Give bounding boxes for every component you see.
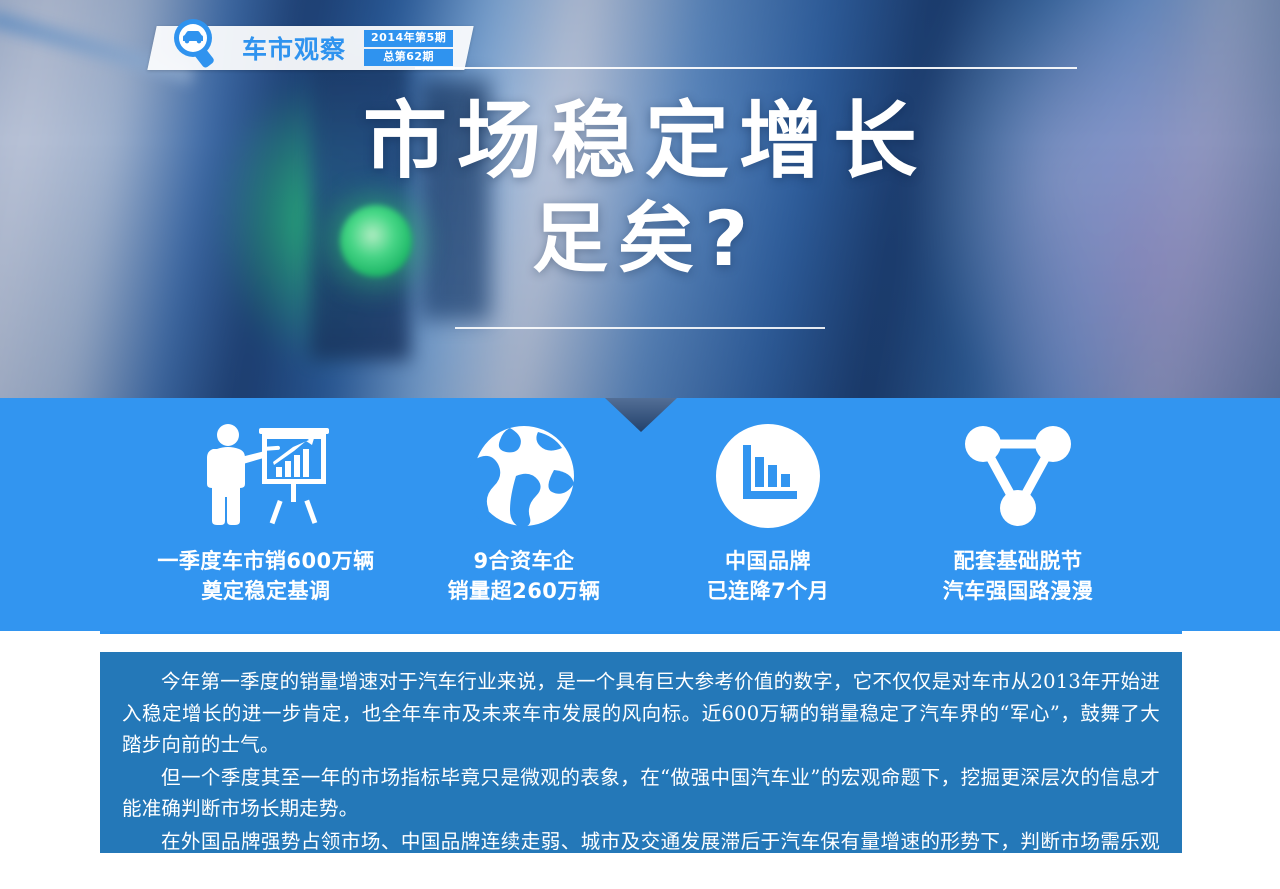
highlight-item-joint-ventures[interactable]: 9合资车企 销量超260万辆 (400, 420, 648, 607)
highlight-item-chinese-brands[interactable]: 中国品牌 已连降7个月 (648, 420, 888, 607)
article-textbox: 今年第一季度的销量增速对于汽车行业来说，是一个具有巨大参考价值的数字，它不仅仅是… (100, 652, 1182, 853)
magnifier-car-icon (160, 18, 222, 76)
title-divider (455, 327, 825, 329)
issue-total: 总第62期 (364, 49, 453, 66)
highlight-line1: 9合资车企 (473, 549, 574, 573)
globe-icon (468, 420, 580, 532)
hero-title: 市场稳定增长 足矣? (0, 96, 1280, 280)
highlight-item-quarterly-sales[interactable]: 一季度车市销600万辆 奠定稳定基调 (132, 420, 400, 607)
highlight-line1: 一季度车市销600万辆 (157, 549, 374, 573)
highlight-line2: 汽车强国路漫漫 (943, 579, 1094, 603)
issue-badge: 2014年第5期 总第62期 (364, 30, 453, 65)
highlight-item-infrastructure[interactable]: 配套基础脱节 汽车强国路漫漫 (888, 420, 1148, 607)
highlights-list: 一季度车市销600万辆 奠定稳定基调 9合资车企 销量超260万辆 (0, 398, 1280, 631)
highlight-line1: 配套基础脱节 (954, 549, 1083, 573)
highlight-line2: 销量超260万辆 (448, 579, 601, 603)
article-paragraph: 在外国品牌强势占领市场、中国品牌连续走弱、城市及交通发展滞后于汽车保有量增速的形… (122, 826, 1160, 889)
article-section: 今年第一季度的销量增速对于汽车行业来说，是一个具有巨大参考价值的数字，它不仅仅是… (0, 631, 1280, 853)
presenter-chart-icon (196, 420, 336, 532)
highlight-line2: 已连降7个月 (707, 579, 830, 603)
article-paragraph: 但一个季度其至一年的市场指标毕竟只是微观的表象，在“做强中国汽车业”的宏观命题下… (122, 762, 1160, 825)
highlight-line2: 奠定稳定基调 (202, 579, 331, 603)
hero-banner: 车市观察 2014年第5期 总第62期 市场稳定增长 足矣? (0, 0, 1280, 400)
article-top-rule (100, 631, 1182, 634)
declining-bar-chart-circle-icon (713, 420, 823, 532)
hero-title-line1: 市场稳定增长 (0, 96, 1280, 187)
hero-title-line2: 足矣? (0, 197, 1280, 281)
article-paragraph: 今年第一季度的销量增速对于汽车行业来说，是一个具有巨大参考价值的数字，它不仅仅是… (122, 666, 1160, 761)
highlight-label: 9合资车企 销量超260万辆 (448, 546, 601, 607)
highlight-label: 一季度车市销600万辆 奠定稳定基调 (157, 546, 374, 607)
triangle-network-icon (959, 420, 1077, 532)
highlight-label: 中国品牌 已连降7个月 (707, 546, 830, 607)
issue-number: 2014年第5期 (364, 30, 453, 47)
highlight-line1: 中国品牌 (725, 549, 811, 573)
highlight-label: 配套基础脱节 汽车强国路漫漫 (943, 546, 1094, 607)
header-divider (415, 67, 1077, 69)
